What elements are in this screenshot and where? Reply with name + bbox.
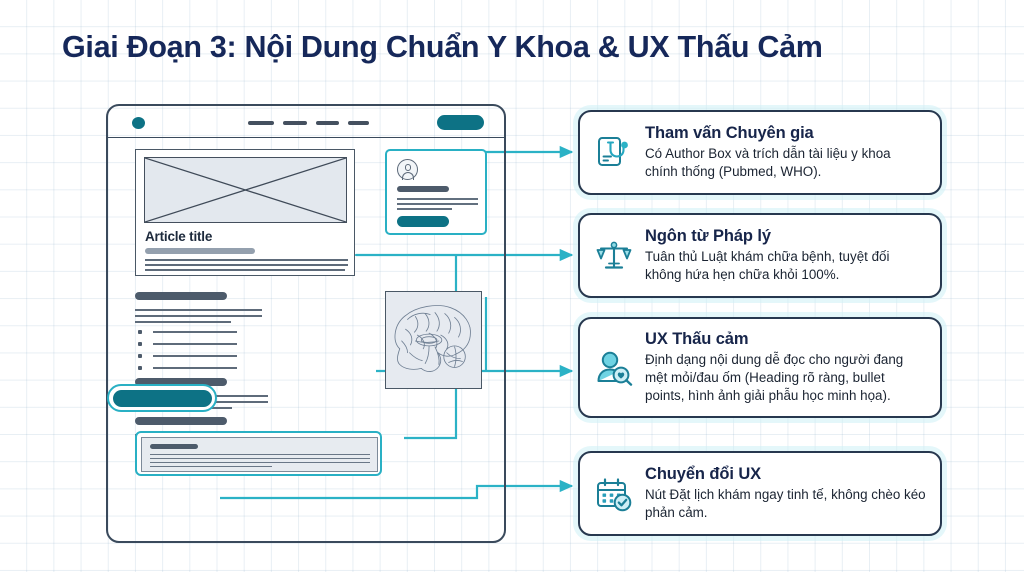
brain-anatomy-illustration	[385, 291, 482, 389]
feature-card-ngon-tu-phap-ly[interactable]: Ngôn từ Pháp lý Tuân thủ Luật khám chữa …	[578, 213, 942, 298]
disclaimer-text-line	[150, 454, 370, 455]
card-text-block: UX Thấu cảm Định dạng nội dung dễ đọc ch…	[645, 330, 926, 404]
avatar-body-shape	[402, 172, 415, 180]
nav-item-placeholder[interactable]	[348, 121, 369, 125]
article-text-line	[145, 264, 348, 266]
image-placeholder-crossed-icon	[144, 157, 347, 223]
teal-dot-logo-icon	[132, 117, 145, 129]
body-text-line	[135, 315, 262, 317]
bullet-text-line	[153, 331, 237, 333]
person-search-heart-icon	[592, 346, 636, 390]
header-cta-pill[interactable]	[437, 115, 484, 130]
bullet-marker	[138, 354, 142, 358]
scales-of-justice-icon	[592, 234, 636, 278]
nav-item-placeholder[interactable]	[283, 121, 307, 125]
nav-item-placeholder[interactable]	[316, 121, 339, 125]
bullet-text-line	[153, 343, 237, 345]
article-title: Article title	[145, 229, 212, 244]
body-text-line	[135, 321, 231, 323]
disclaimer-text-line	[150, 466, 272, 467]
card-text-block: Chuyển đổi UX Nút Đặt lịch khám ngay tin…	[645, 465, 926, 521]
author-box-highlighted	[385, 149, 487, 235]
user-avatar-icon	[397, 159, 418, 180]
article-text-line	[145, 259, 348, 261]
nav-item-placeholder[interactable]	[248, 121, 274, 125]
browser-wireframe: Article title	[106, 104, 506, 543]
bullet-marker	[138, 342, 142, 346]
article-text-line	[145, 269, 345, 271]
disclaimer-text-line	[150, 462, 370, 463]
card-text-block: Ngôn từ Pháp lý Tuân thủ Luật khám chữa …	[645, 227, 926, 283]
card-title: UX Thấu cảm	[645, 330, 926, 349]
card-title: Chuyển đổi UX	[645, 465, 926, 484]
stethoscope-clipboard-icon	[592, 131, 636, 175]
section-heading-placeholder	[135, 292, 227, 300]
booking-cta-button-highlighted[interactable]	[107, 384, 217, 412]
bullet-marker	[138, 366, 142, 370]
card-title: Tham vấn Chuyên gia	[645, 124, 926, 143]
card-title: Ngôn từ Pháp lý	[645, 227, 926, 246]
bullet-text-line	[153, 355, 237, 357]
article-subtitle-placeholder	[145, 248, 255, 254]
calendar-check-icon	[592, 472, 636, 516]
disclaimer-text-line	[150, 458, 370, 459]
article-hero-card: Article title	[135, 149, 355, 276]
disclaimer-heading-placeholder	[150, 444, 198, 449]
feature-card-chuyen-doi-ux[interactable]: Chuyển đổi UX Nút Đặt lịch khám ngay tin…	[578, 451, 942, 536]
bullet-text-line	[153, 367, 237, 369]
booking-cta-pill[interactable]	[113, 390, 212, 407]
author-name-placeholder	[397, 186, 449, 192]
feature-card-tham-van-chuyen-gia[interactable]: Tham vấn Chuyên gia Có Author Box và trí…	[578, 110, 942, 195]
card-text-block: Tham vấn Chuyên gia Có Author Box và trí…	[645, 124, 926, 180]
bullet-marker	[138, 330, 142, 334]
card-description: Nút Đặt lịch khám ngay tinh tế, không ch…	[645, 486, 926, 521]
section-heading-placeholder	[135, 417, 227, 425]
author-bio-line	[397, 203, 478, 205]
avatar-head-shape	[405, 164, 412, 171]
browser-top-bar	[108, 106, 504, 138]
author-bio-line	[397, 198, 478, 200]
page-title: Giai Đoạn 3: Nội Dung Chuẩn Y Khoa & UX …	[62, 30, 823, 65]
card-description: Định dạng nội dung dễ đọc cho người đang…	[645, 351, 926, 404]
infographic-canvas: Giai Đoạn 3: Nội Dung Chuẩn Y Khoa & UX …	[0, 0, 1024, 572]
body-text-line	[135, 309, 262, 311]
card-description: Có Author Box và trích dẫn tài liệu y kh…	[645, 145, 926, 180]
author-bio-line	[397, 208, 452, 210]
author-cta-pill[interactable]	[397, 216, 449, 227]
disclaimer-inner-panel	[141, 437, 378, 472]
feature-card-ux-thau-cam[interactable]: UX Thấu cảm Định dạng nội dung dễ đọc ch…	[578, 317, 942, 418]
disclaimer-box-highlighted	[135, 431, 382, 476]
card-description: Tuân thủ Luật khám chữa bệnh, tuyệt đối …	[645, 248, 926, 283]
